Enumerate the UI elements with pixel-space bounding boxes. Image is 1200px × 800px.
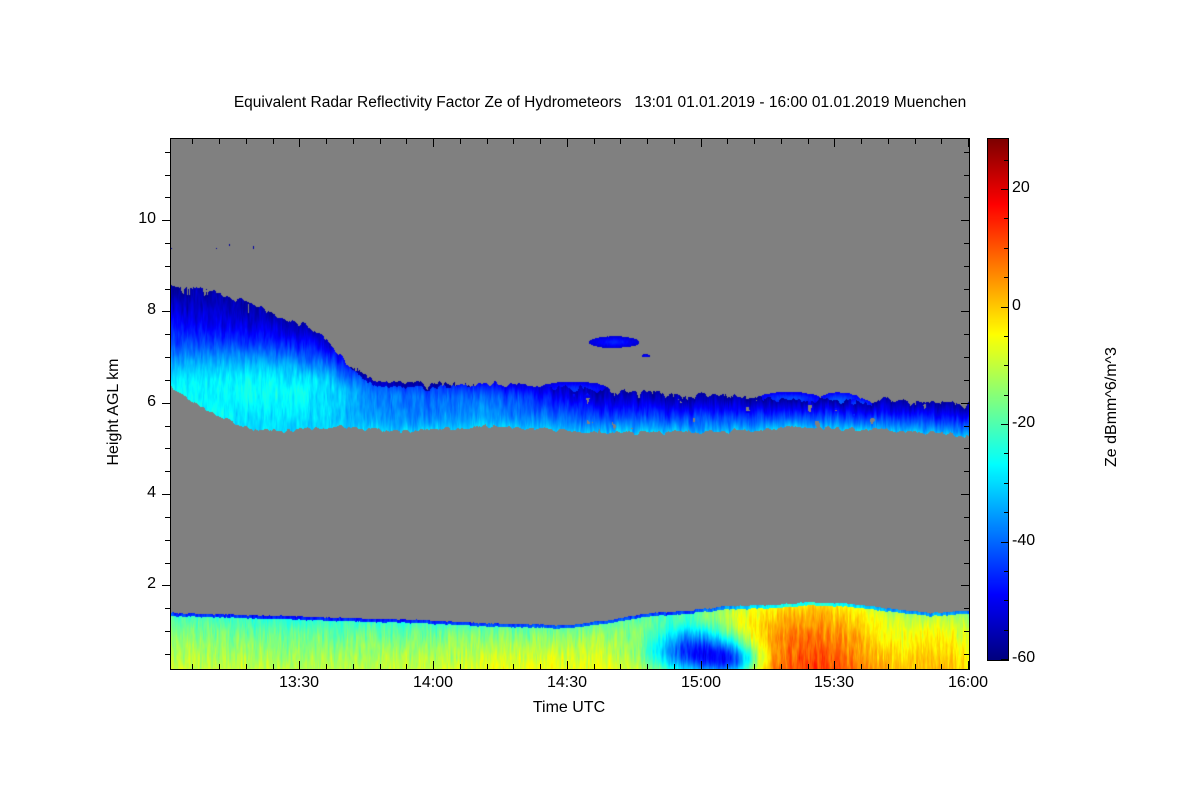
y-tick-minor xyxy=(165,197,170,198)
y-tick-minor-right xyxy=(964,152,969,153)
y-tick-minor-right xyxy=(964,357,969,358)
y-tick-major xyxy=(162,585,170,586)
reflectivity-heatmap xyxy=(171,139,969,669)
x-tick-minor xyxy=(219,664,220,669)
y-tick-major xyxy=(162,403,170,404)
colorbar-tick-minor xyxy=(1004,483,1008,484)
y-tick-minor-right xyxy=(964,175,969,176)
colorbar-tick-major xyxy=(1001,307,1008,308)
y-tick-label: 2 xyxy=(147,575,156,593)
y-tick-minor-right xyxy=(964,563,969,564)
colorbar-tick-minor xyxy=(1004,600,1008,601)
y-tick-minor-right xyxy=(964,243,969,244)
y-tick-major-right xyxy=(961,403,969,404)
y-tick-minor xyxy=(165,517,170,518)
x-tick-major-top xyxy=(701,139,702,147)
y-tick-minor xyxy=(165,357,170,358)
x-tick-minor-top xyxy=(273,139,274,144)
x-tick-minor xyxy=(754,664,755,669)
x-tick-minor-top xyxy=(246,139,247,144)
y-tick-minor xyxy=(165,654,170,655)
y-tick-minor-right xyxy=(964,608,969,609)
y-tick-major-right xyxy=(961,220,969,221)
x-tick-label: 15:00 xyxy=(681,674,721,692)
x-tick-minor xyxy=(246,664,247,669)
colorbar-tick-minor xyxy=(1004,453,1008,454)
x-tick-minor xyxy=(620,664,621,669)
x-tick-minor xyxy=(326,664,327,669)
x-tick-major xyxy=(299,661,300,669)
x-tick-minor-top xyxy=(487,139,488,144)
y-tick-major xyxy=(162,311,170,312)
y-tick-minor xyxy=(165,563,170,564)
y-tick-label: 6 xyxy=(147,393,156,411)
colorbar-tick-major xyxy=(1001,424,1008,425)
x-tick-minor xyxy=(941,664,942,669)
colorbar-tick-label: -60 xyxy=(1012,649,1035,667)
x-tick-minor xyxy=(808,664,809,669)
x-tick-major-top xyxy=(968,139,969,147)
y-tick-minor-right xyxy=(964,289,969,290)
x-tick-label: 13:30 xyxy=(279,674,319,692)
x-tick-minor-top xyxy=(540,139,541,144)
x-tick-major xyxy=(567,661,568,669)
x-tick-minor xyxy=(915,664,916,669)
colorbar-tick-minor xyxy=(1004,571,1008,572)
x-tick-minor xyxy=(353,664,354,669)
y-tick-major xyxy=(162,220,170,221)
x-tick-major-top xyxy=(433,139,434,147)
y-tick-minor xyxy=(165,243,170,244)
x-tick-minor xyxy=(888,664,889,669)
colorbar-tick-major xyxy=(1001,659,1008,660)
y-tick-minor xyxy=(165,608,170,609)
x-tick-minor-top xyxy=(406,139,407,144)
x-tick-minor-top xyxy=(781,139,782,144)
x-tick-label: 15:30 xyxy=(814,674,854,692)
y-tick-minor-right xyxy=(964,631,969,632)
x-tick-minor xyxy=(781,664,782,669)
plot-area xyxy=(170,138,970,670)
x-tick-major-top xyxy=(567,139,568,147)
colorbar-tick-major xyxy=(1001,189,1008,190)
y-tick-minor-right xyxy=(964,540,969,541)
y-tick-label: 8 xyxy=(147,301,156,319)
y-tick-minor xyxy=(165,380,170,381)
x-tick-major-top xyxy=(834,139,835,147)
x-tick-minor-top xyxy=(915,139,916,144)
x-tick-minor xyxy=(674,664,675,669)
x-tick-minor xyxy=(273,664,274,669)
x-tick-minor-top xyxy=(808,139,809,144)
y-tick-minor-right xyxy=(964,654,969,655)
y-tick-minor-right xyxy=(964,266,969,267)
y-axis-label: Height AGL km xyxy=(105,292,123,532)
colorbar xyxy=(987,138,1009,661)
y-tick-label: 10 xyxy=(138,210,156,228)
colorbar-label: Ze dBmm^6/m^3 xyxy=(1103,277,1121,537)
x-tick-minor xyxy=(540,664,541,669)
colorbar-tick-minor xyxy=(1004,248,1008,249)
x-tick-minor-top xyxy=(460,139,461,144)
y-tick-minor xyxy=(165,540,170,541)
y-tick-major xyxy=(162,494,170,495)
x-tick-minor-top xyxy=(647,139,648,144)
x-tick-minor-top xyxy=(219,139,220,144)
y-tick-major-right xyxy=(961,585,969,586)
y-tick-minor-right xyxy=(964,426,969,427)
y-tick-minor xyxy=(165,266,170,267)
x-tick-minor-top xyxy=(192,139,193,144)
y-tick-minor xyxy=(165,175,170,176)
x-tick-minor xyxy=(861,664,862,669)
x-tick-minor xyxy=(513,664,514,669)
colorbar-tick-minor xyxy=(1004,512,1008,513)
x-tick-minor xyxy=(406,664,407,669)
x-tick-minor-top xyxy=(888,139,889,144)
colorbar-tick-minor xyxy=(1004,218,1008,219)
page-title: Equivalent Radar Reflectivity Factor Ze … xyxy=(0,94,1200,112)
colorbar-tick-label: -20 xyxy=(1012,414,1035,432)
colorbar-tick-minor xyxy=(1004,160,1008,161)
x-tick-minor xyxy=(594,664,595,669)
x-tick-major-top xyxy=(299,139,300,147)
x-tick-minor xyxy=(727,664,728,669)
x-tick-minor xyxy=(460,664,461,669)
x-tick-label: 14:30 xyxy=(547,674,587,692)
y-tick-minor xyxy=(165,334,170,335)
x-tick-minor xyxy=(647,664,648,669)
x-tick-minor-top xyxy=(861,139,862,144)
colorbar-tick-minor xyxy=(1004,336,1008,337)
y-tick-minor-right xyxy=(964,517,969,518)
x-tick-major xyxy=(834,661,835,669)
colorbar-tick-minor xyxy=(1004,630,1008,631)
x-tick-minor xyxy=(192,664,193,669)
colorbar-tick-label: -40 xyxy=(1012,532,1035,550)
x-axis-label: Time UTC xyxy=(170,699,968,717)
x-tick-minor-top xyxy=(620,139,621,144)
x-tick-minor-top xyxy=(353,139,354,144)
y-tick-label: 4 xyxy=(147,484,156,502)
x-tick-major xyxy=(433,661,434,669)
x-tick-label: 14:00 xyxy=(413,674,453,692)
x-tick-minor-top xyxy=(326,139,327,144)
x-tick-minor-top xyxy=(674,139,675,144)
y-tick-minor xyxy=(165,426,170,427)
y-tick-minor xyxy=(165,289,170,290)
x-tick-minor-top xyxy=(513,139,514,144)
x-tick-major xyxy=(701,661,702,669)
colorbar-tick-label: 20 xyxy=(1012,179,1030,197)
y-tick-minor-right xyxy=(964,380,969,381)
x-tick-minor-top xyxy=(594,139,595,144)
x-tick-minor-top xyxy=(941,139,942,144)
radar-reflectivity-figure: Equivalent Radar Reflectivity Factor Ze … xyxy=(0,0,1200,800)
x-tick-minor xyxy=(487,664,488,669)
x-tick-minor-top xyxy=(380,139,381,144)
colorbar-tick-label: 0 xyxy=(1012,297,1021,315)
y-tick-minor-right xyxy=(964,471,969,472)
y-tick-minor xyxy=(165,448,170,449)
x-tick-minor-top xyxy=(727,139,728,144)
colorbar-tick-minor xyxy=(1004,365,1008,366)
y-tick-minor-right xyxy=(964,334,969,335)
colorbar-tick-major xyxy=(1001,542,1008,543)
x-tick-minor xyxy=(380,664,381,669)
y-tick-major-right xyxy=(961,494,969,495)
colorbar-tick-minor xyxy=(1004,395,1008,396)
y-tick-minor-right xyxy=(964,448,969,449)
y-tick-minor xyxy=(165,152,170,153)
colorbar-tick-minor xyxy=(1004,277,1008,278)
y-tick-major-right xyxy=(961,311,969,312)
x-tick-minor-top xyxy=(754,139,755,144)
x-tick-major xyxy=(968,661,969,669)
y-tick-minor-right xyxy=(964,197,969,198)
x-tick-label: 16:00 xyxy=(948,674,988,692)
y-tick-minor xyxy=(165,631,170,632)
y-tick-minor xyxy=(165,471,170,472)
